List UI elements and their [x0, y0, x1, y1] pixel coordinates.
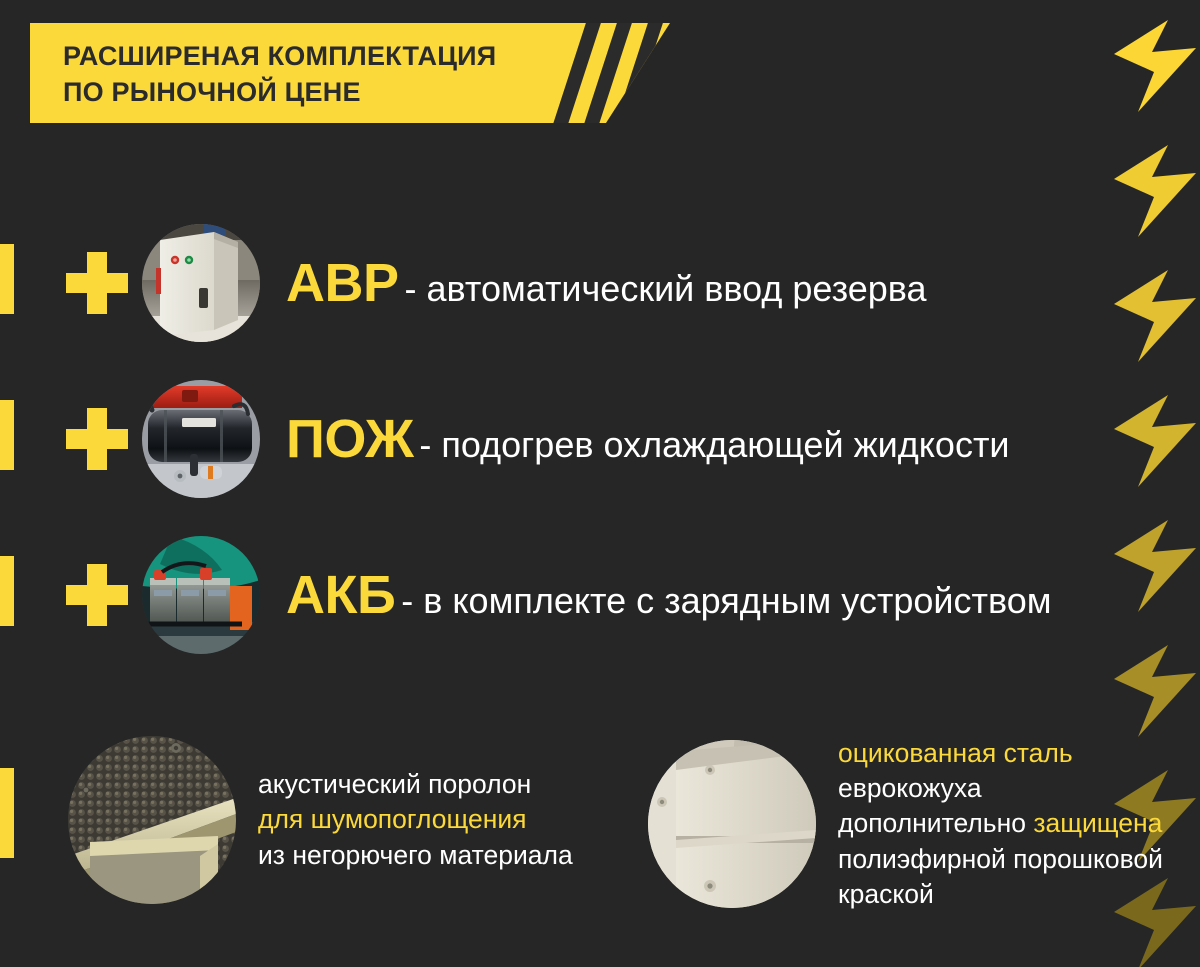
feature-row-akb: АКБ- в комплекте с зарядным устройством	[66, 536, 1051, 654]
caption-segment: дополнительно	[838, 808, 1033, 838]
galvanized-steel-casing-photo	[648, 740, 816, 908]
feature-desc: - в комплекте с зарядным устройством	[401, 580, 1051, 621]
feature-text-akb: АКБ- в комплекте с зарядным устройством	[286, 568, 1051, 622]
left-edge-tab	[0, 244, 14, 314]
header-banner: РАСШИРЕНАЯ КОМПЛЕКТАЦИЯ ПО РЫНОЧНОЙ ЦЕНЕ	[30, 23, 670, 123]
caption-line-highlight: оцикованная сталь	[838, 736, 1163, 771]
bottom-block-galvanized-steel: оцикованная сталь еврокожуха дополнитель…	[648, 736, 1163, 912]
plus-icon	[66, 408, 128, 470]
banner-diagonal-stripes	[540, 23, 670, 123]
lightning-bolt-icon	[1112, 268, 1198, 364]
galvanized-steel-caption: оцикованная сталь еврокожуха дополнитель…	[838, 736, 1163, 912]
acoustic-foam-photo	[68, 736, 236, 904]
caption-line: еврокожуха	[838, 771, 1163, 806]
control-cabinet-photo	[142, 224, 260, 342]
feature-abbr: АКБ	[286, 565, 395, 625]
acoustic-foam-caption: акустический поролон для шумопоглощения …	[258, 767, 573, 873]
caption-line: краской	[838, 877, 1163, 912]
feature-desc: - подогрев охлаждающей жидкости	[419, 424, 1009, 465]
caption-line: из негорючего материала	[258, 838, 573, 873]
caption-line: акустический поролон	[258, 767, 573, 802]
left-edge-tab	[0, 556, 14, 626]
feature-text-pozh: ПОЖ- подогрев охлаждающей жидкости	[286, 412, 1010, 466]
feature-abbr: ПОЖ	[286, 409, 413, 469]
coolant-heater-photo	[142, 380, 260, 498]
lightning-bolt-icon	[1112, 393, 1198, 489]
feature-abbr: АВР	[286, 253, 399, 313]
lightning-bolt-icon	[1112, 18, 1198, 114]
page-title: РАСШИРЕНАЯ КОМПЛЕКТАЦИЯ ПО РЫНОЧНОЙ ЦЕНЕ	[63, 39, 496, 110]
battery-bank-photo	[142, 536, 260, 654]
plus-icon	[66, 564, 128, 626]
bottom-block-acoustic-foam: акустический поролон для шумопоглощения …	[68, 736, 573, 904]
feature-text-avr: АВР- автоматический ввод резерва	[286, 256, 927, 310]
feature-desc: - автоматический ввод резерва	[405, 268, 927, 309]
slide-root: РАСШИРЕНАЯ КОМПЛЕКТАЦИЯ ПО РЫНОЧНОЙ ЦЕНЕ	[0, 0, 1200, 967]
plus-icon	[66, 252, 128, 314]
left-edge-tab	[0, 400, 14, 470]
feature-row-avr: АВР- автоматический ввод резерва	[66, 224, 927, 342]
caption-line: полиэфирной порошковой	[838, 842, 1163, 877]
lightning-bolt-icon	[1112, 643, 1198, 739]
caption-segment-highlight: защищена	[1033, 808, 1162, 838]
caption-line-mixed: дополнительно защищена	[838, 806, 1163, 841]
lightning-bolt-icon	[1112, 143, 1198, 239]
feature-row-pozh: ПОЖ- подогрев охлаждающей жидкости	[66, 380, 1010, 498]
caption-line-highlight: для шумопоглощения	[258, 802, 573, 837]
lightning-bolt-icon	[1112, 518, 1198, 614]
left-edge-tab	[0, 768, 14, 858]
